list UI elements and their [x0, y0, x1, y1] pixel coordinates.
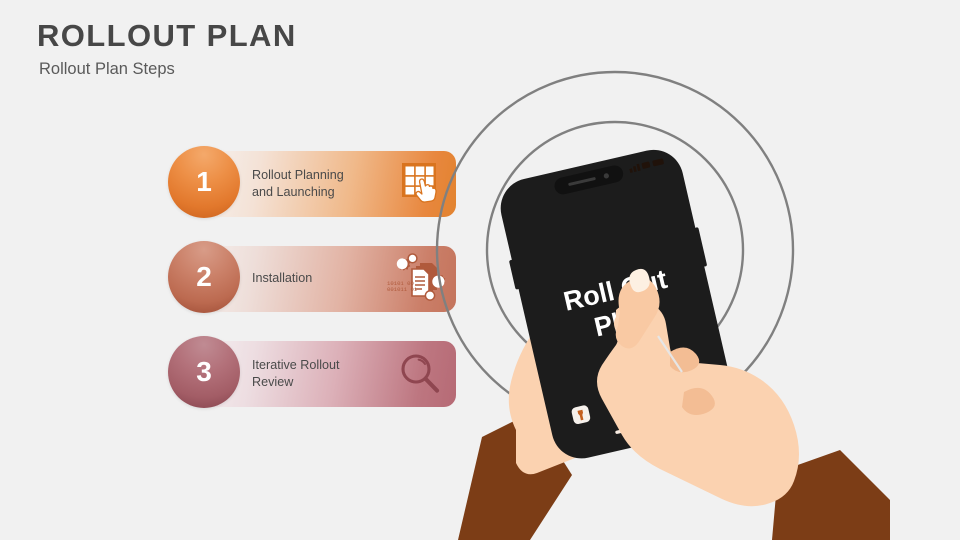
slide-canvas: ROLLOUT PLAN Rollout Plan Steps Rollout … — [0, 0, 960, 540]
step-number: 2 — [196, 261, 212, 293]
step-number: 1 — [196, 166, 212, 198]
step-number: 3 — [196, 356, 212, 388]
page-subtitle: Rollout Plan Steps — [39, 60, 175, 79]
step-number-badge: 1 — [168, 146, 240, 218]
step-card[interactable]: Installation — [204, 246, 456, 312]
list-item[interactable]: Installation — [168, 241, 456, 317]
step-label: Installation — [252, 246, 364, 312]
page-title: ROLLOUT PLAN — [37, 18, 297, 54]
step-card[interactable]: Rollout Planning and Launching — [204, 151, 456, 217]
hands-holding-phone-illustration: 0%" stop-color="#c6601e"/> 42%" stop-col… — [420, 0, 960, 540]
step-label: Iterative Rollout Review — [252, 341, 364, 407]
list-item[interactable]: Iterative Rollout Review 3 — [168, 336, 456, 412]
svg-text:001011 01: 001011 01 — [387, 286, 418, 293]
step-number-badge: 2 — [168, 241, 240, 313]
step-number-badge: 3 — [168, 336, 240, 408]
step-label: Rollout Planning and Launching — [252, 151, 364, 217]
step-card[interactable]: Iterative Rollout Review — [204, 341, 456, 407]
list-item[interactable]: Rollout Planning and Launching — [168, 146, 456, 222]
